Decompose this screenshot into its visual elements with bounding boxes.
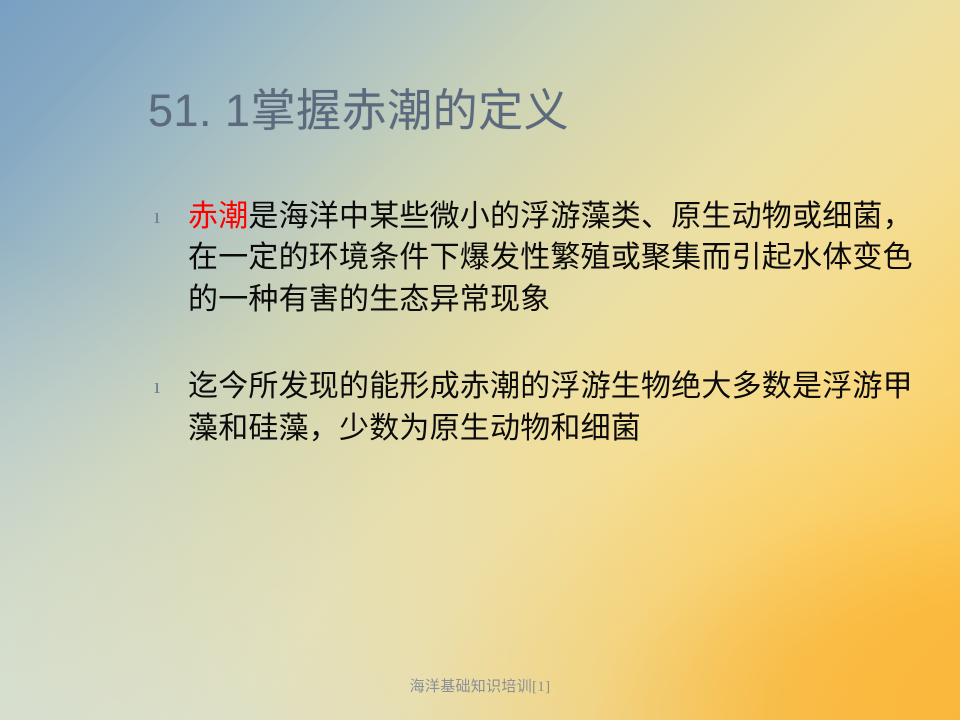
list-item: ı 迄今所发现的能形成赤潮的浮游生物绝大多数是浮游甲藻和硅藻，少数为原生动物和细…: [148, 366, 938, 449]
bullet-marker-icon: ı: [154, 205, 172, 227]
list-item-text: 迄今所发现的能形成赤潮的浮游生物绝大多数是浮游甲藻和硅藻，少数为原生动物和细菌: [188, 370, 913, 444]
bullet-list: ı 赤潮是海洋中某些微小的浮游藻类、原生动物或细菌，在一定的环境条件下爆发性繁殖…: [148, 196, 938, 449]
page-title: 51. 1掌握赤潮的定义: [148, 86, 908, 136]
list-item-body: 是海洋中某些微小的浮游藻类、原生动物或细菌，在一定的环境条件下爆发性繁殖或聚集而…: [188, 200, 913, 316]
list-item-body: 迄今所发现的能形成赤潮的浮游生物绝大多数是浮游甲藻和硅藻，少数为原生动物和细菌: [188, 370, 913, 444]
footer-text: 海洋基础知识培训[1]: [410, 679, 551, 695]
title-text: 掌握赤潮的定义: [251, 86, 570, 136]
bullet-marker-icon: ı: [154, 375, 172, 397]
list-item-text: 赤潮是海洋中某些微小的浮游藻类、原生动物或细菌，在一定的环境条件下爆发性繁殖或聚…: [188, 200, 913, 316]
highlighted-term: 赤潮: [188, 200, 248, 233]
list-item: ı 赤潮是海洋中某些微小的浮游藻类、原生动物或细菌，在一定的环境条件下爆发性繁殖…: [148, 196, 938, 320]
slide-canvas: 51. 1掌握赤潮的定义 ı 赤潮是海洋中某些微小的浮游藻类、原生动物或细菌，在…: [0, 0, 960, 720]
slide-footer: 海洋基础知识培训[1]: [0, 678, 960, 696]
title-number: 51. 1: [148, 85, 251, 136]
slide-content: 51. 1掌握赤潮的定义 ı 赤潮是海洋中某些微小的浮游藻类、原生动物或细菌，在…: [0, 0, 960, 720]
